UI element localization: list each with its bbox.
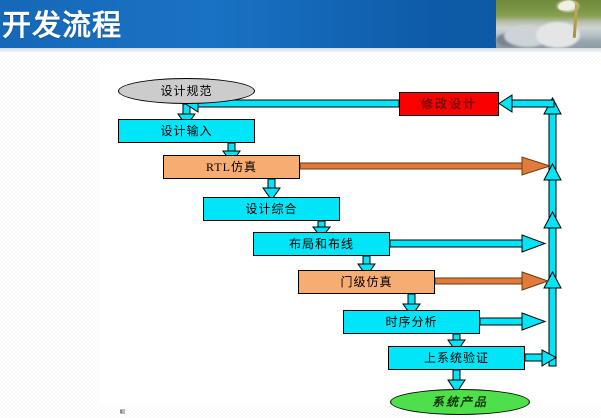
seedling-photo: [496, 0, 601, 48]
node-system-product[interactable]: 系统产品: [390, 389, 530, 415]
edge-gatesim-to-bus: [435, 272, 548, 290]
edge-bus-to-redesign: [499, 95, 554, 112]
node-rtl-simulation[interactable]: RTL仿真: [163, 155, 300, 179]
node-design-spec[interactable]: 设计规范: [118, 78, 255, 104]
node-gate-level-simulation[interactable]: 门级仿真: [298, 270, 435, 294]
node-modify-design[interactable]: 修改设计: [399, 92, 499, 116]
page-number-marker: 5: [120, 409, 125, 414]
slide-body: 设计规范 设计输入 RTL仿真 设计综合 布局和布线 门级仿真 时序分析 上系统…: [0, 52, 601, 418]
edge-timing-to-bus: [480, 313, 545, 330]
edge-pnr-to-bus: [390, 235, 545, 252]
node-place-and-route[interactable]: 布局和布线: [253, 232, 390, 256]
edge-rtlsim-to-bus: [300, 157, 550, 175]
node-timing-analysis[interactable]: 时序分析: [343, 310, 480, 334]
node-system-verification[interactable]: 上系统验证: [388, 346, 525, 370]
feedback-bus-vertical: [544, 98, 561, 366]
page-title: 开发流程: [2, 2, 122, 44]
slide-header: 开发流程: [0, 0, 601, 48]
node-design-synthesis[interactable]: 设计综合: [203, 197, 340, 221]
photo-leaf: [557, 0, 575, 12]
node-design-input[interactable]: 设计输入: [118, 119, 255, 143]
